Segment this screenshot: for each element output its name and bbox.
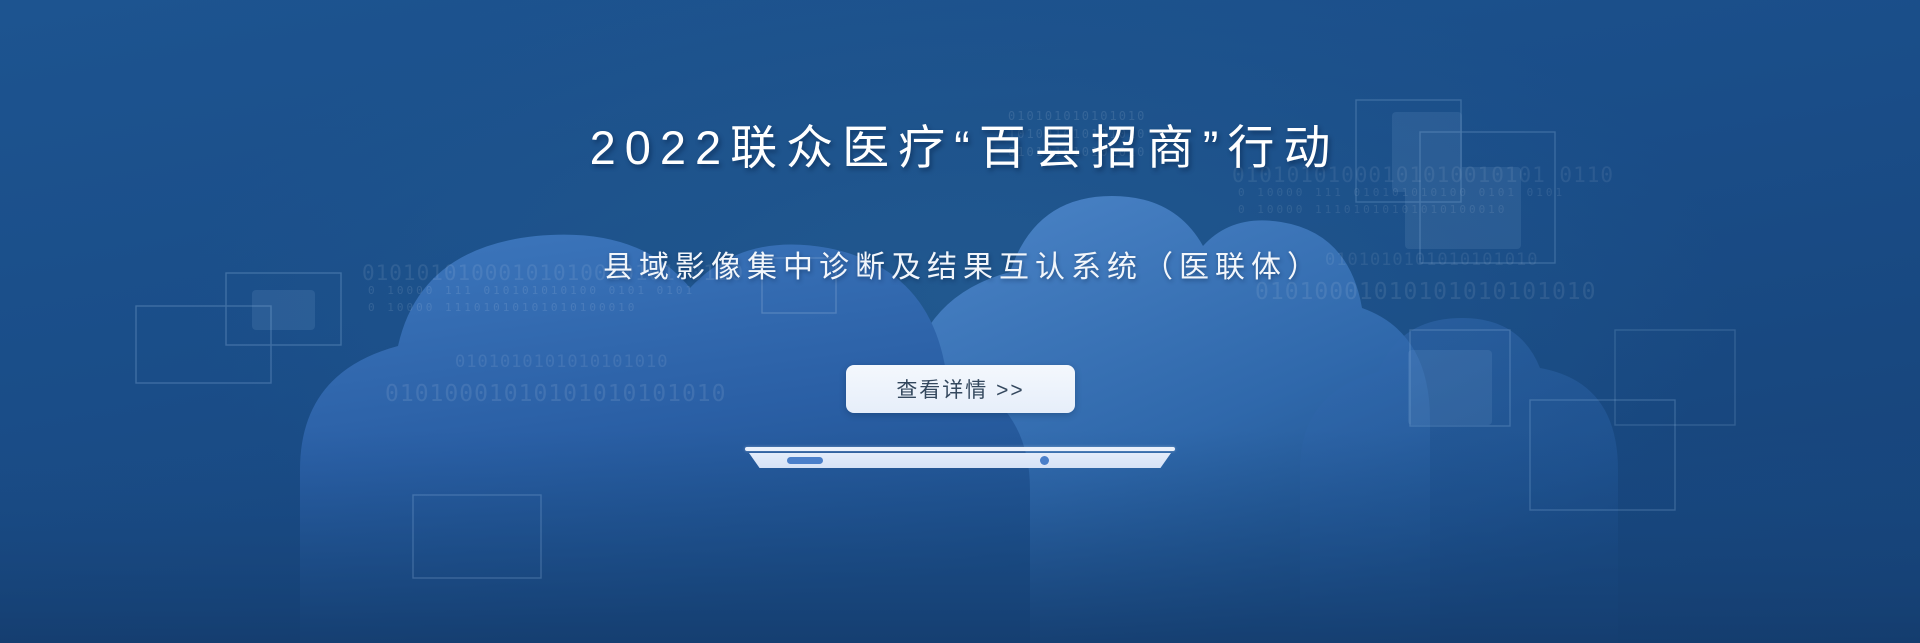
background-decoration (0, 0, 1920, 643)
laptop-screen-edge (745, 447, 1175, 451)
binary-code-text: 0101010101010101010 (455, 350, 668, 375)
view-details-button[interactable]: 查看详情 >> (846, 365, 1075, 413)
binary-code-text: 0 10000 11101010101010100010 (1238, 202, 1507, 218)
promo-banner: 01010101000101010010101 0110 0 10000 111… (0, 0, 1920, 643)
binary-code-text: 101001010101010 (1008, 126, 1146, 143)
decorative-filled-rect-left (252, 290, 315, 330)
binary-code-text: 0101010101010101010 (1325, 248, 1538, 273)
binary-code-text: 010101010101010 (1008, 108, 1146, 125)
binary-code-text: 0 10000 11101010101010100010 (368, 300, 637, 316)
laptop-indicator-dot-icon (1040, 456, 1049, 465)
laptop-notch-icon (787, 457, 823, 464)
laptop-base-graphic (745, 447, 1175, 475)
binary-code-text: 0 10000 111 010101010100 0101 0101 (1238, 185, 1565, 201)
binary-code-text: 01010001010101010101010 (1255, 276, 1597, 309)
binary-code-text: 0 10000 111 010101010100 0101 0101 (368, 283, 695, 299)
binary-code-text: 01010001010101010101010 (385, 378, 727, 411)
binary-code-text: 010101010101010 (1008, 144, 1146, 161)
